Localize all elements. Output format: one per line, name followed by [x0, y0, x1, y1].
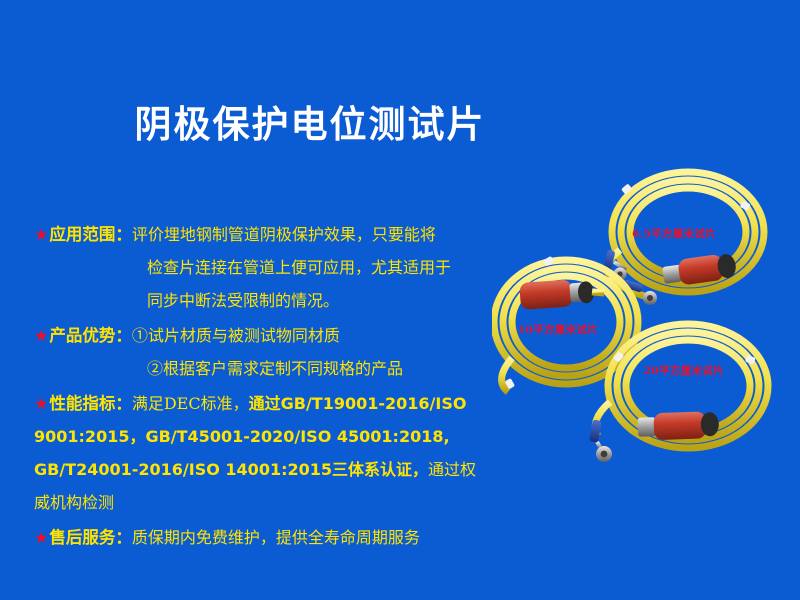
star-icon: ★ — [34, 528, 48, 547]
bullet-text: 通过GB/T19001-2016/ISO — [249, 394, 467, 413]
bullet-product-advantages: ★产品优势：①试片材质与被测试物同材质 ②根据客户需求定制不同规格的产品 — [34, 319, 504, 385]
bullet-label: 产品优势： — [49, 326, 132, 345]
bullet-label: 性能指标： — [49, 394, 132, 413]
star-icon: ★ — [34, 326, 48, 345]
star-icon: ★ — [34, 225, 48, 244]
bullet-text: GB/T24001-2016/ISO 14001:2015三体系认证， — [34, 460, 428, 479]
bullet-text: 质保期内免费维护，提供全寿命周期服务 — [132, 528, 420, 547]
bullet-label: 售后服务： — [49, 528, 132, 547]
bullet-after-sales-service: ★售后服务：质保期内免费维护，提供全寿命周期服务 — [34, 521, 504, 554]
product-caption: 10平方厘米试片 — [518, 322, 598, 337]
product-caption: 6.5平方厘米试片 — [632, 226, 716, 241]
bullet-text: ②根据客户需求定制不同规格的产品 — [147, 359, 403, 378]
bullet-text: 通过权 — [428, 460, 476, 479]
bullet-label: 应用范围： — [49, 225, 132, 244]
cable-coils-illustration — [492, 158, 800, 474]
body-content: ★应用范围：评价埋地钢制管道阴极保护效果，只要能将 检查片连接在管道上便可应用，… — [34, 218, 504, 556]
product-caption: 20平方厘米试片 — [644, 363, 724, 378]
bullet-application-scope: ★应用范围：评价埋地钢制管道阴极保护效果，只要能将 检查片连接在管道上便可应用，… — [34, 218, 504, 317]
bullet-text: ①试片材质与被测试物同材质 — [132, 326, 340, 345]
star-icon: ★ — [34, 394, 48, 413]
bullet-text: 评价埋地钢制管道阴极保护效果，只要能将 — [132, 225, 436, 244]
slide-root: 阴极保护电位测试片 ★应用范围：评价埋地钢制管道阴极保护效果，只要能将 检查片连… — [0, 0, 800, 600]
bullet-text: 同步中断法受限制的情况。 — [147, 291, 339, 310]
bullet-text: 检查片连接在管道上便可应用，尤其适用于 — [147, 258, 451, 277]
bullet-text: 满足DEC标准， — [132, 394, 249, 413]
page-title: 阴极保护电位测试片 — [0, 94, 620, 148]
product-photo: 6.5平方厘米试片 10平方厘米试片 20平方厘米试片 — [492, 158, 800, 474]
bullet-text: 9001:2015，GB/T45001-2020/ISO 45001:2018, — [34, 427, 450, 446]
bullet-text: 威机构检测 — [34, 493, 114, 512]
bullet-performance-standards: ★性能指标：满足DEC标准，通过GB/T19001-2016/ISO 9001:… — [34, 387, 504, 519]
